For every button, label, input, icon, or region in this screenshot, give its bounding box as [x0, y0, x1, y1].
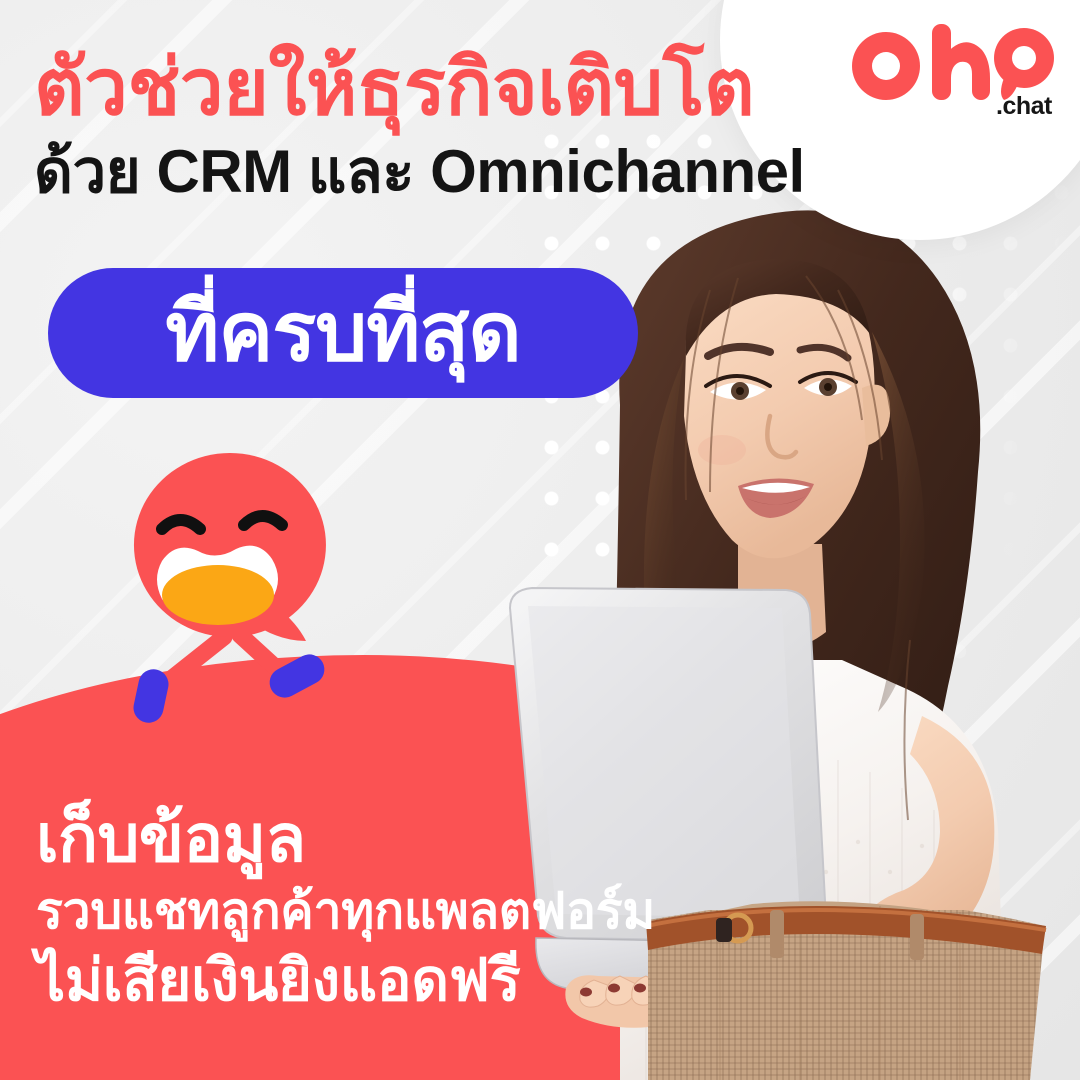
bottom-copy-block: เก็บข้อมูล รวบแชทลูกค้าทุกแพลตฟอร์ม ไม่เ… — [36, 800, 676, 1016]
bottom-copy-line-1: เก็บข้อมูล — [36, 800, 676, 877]
highlight-pill: ที่ครบที่สุด — [48, 268, 638, 398]
advertisement-canvas: .chat ตัวช่วยให้ธุรกิจเติบโต ด้วย CRM แล… — [0, 0, 1080, 1080]
bottom-copy-line-3: ไม่เสียเงินยิงแอดฟรี — [36, 946, 676, 1017]
svg-text:.chat: .chat — [996, 92, 1053, 120]
pill-label: ที่ครบที่สุด — [48, 292, 638, 374]
headline-line-1: ตัวช่วยให้ธุรกิจเติบโต — [34, 44, 854, 131]
headline-block: ตัวช่วยให้ธุรกิจเติบโต ด้วย CRM และ Omni… — [34, 44, 854, 208]
oho-chat-logo[interactable]: .chat — [848, 22, 1058, 122]
headline-line-2: ด้วย CRM และ Omnichannel — [34, 137, 854, 208]
oho-chat-mascot — [100, 445, 360, 725]
bottom-copy-line-2: รวบแชทลูกค้าทุกแพลตฟอร์ม — [36, 879, 676, 944]
